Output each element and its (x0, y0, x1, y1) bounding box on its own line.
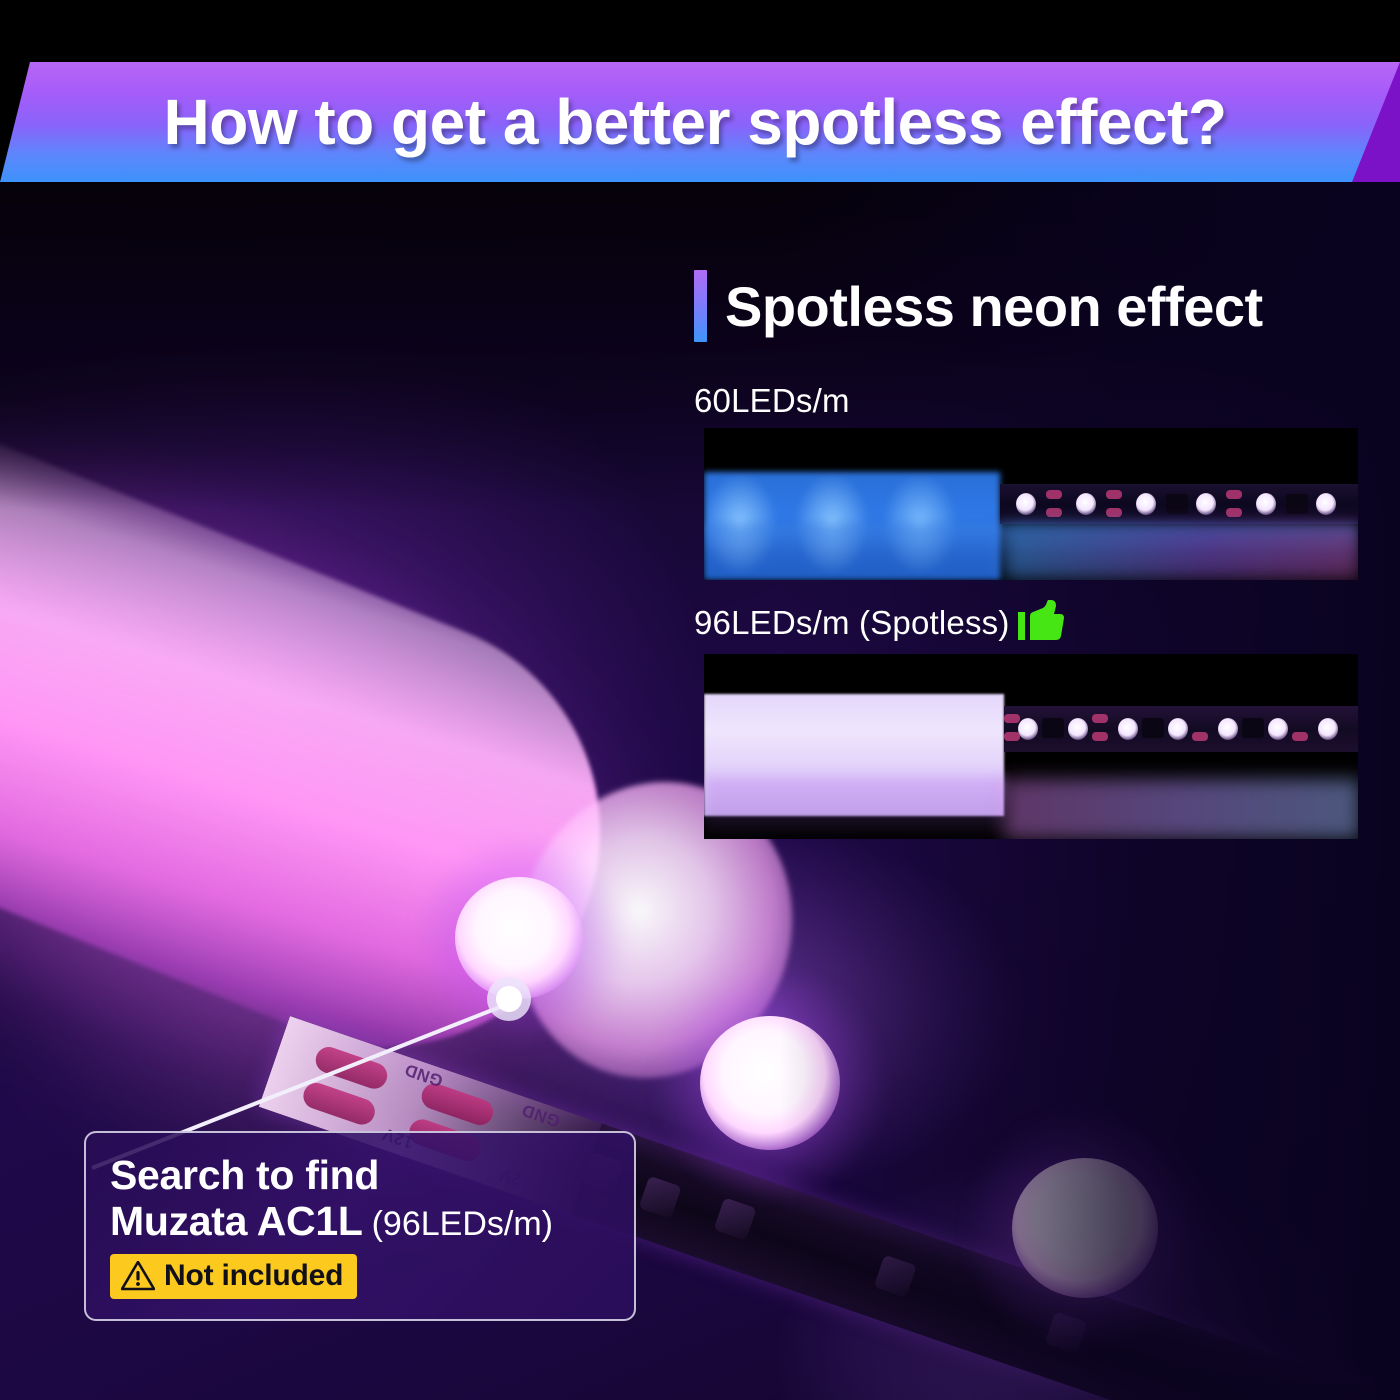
product-infographic: GND 12V GND 12V How to get a better spot… (0, 0, 1400, 1400)
mini-ic (1142, 718, 1164, 738)
not-included-badge: Not included (110, 1254, 357, 1299)
bare-led-strip-96 (1004, 706, 1358, 752)
mini-led (1136, 493, 1156, 515)
mini-ic (1166, 494, 1188, 514)
comparison-section: Spotless neon effect 60LEDs/m (694, 270, 1354, 839)
surface-reflection-strip (1004, 526, 1358, 580)
pcb-component (714, 1197, 757, 1240)
mini-pad (1226, 508, 1242, 517)
mini-led (1318, 718, 1338, 740)
mini-led (1168, 718, 1188, 740)
mini-pad (1292, 732, 1308, 741)
mini-pad (1092, 732, 1108, 741)
comparison-image-96 (704, 654, 1358, 839)
section-accent-bar (694, 270, 707, 342)
mini-led (1118, 718, 1138, 740)
callout-spec: (96LEDs/m) (372, 1206, 553, 1243)
comparison-label-60-text: 60LEDs/m (694, 382, 850, 420)
mini-led (1316, 493, 1336, 515)
page-title: How to get a better spotless effect? (0, 62, 1400, 182)
mini-pad (1046, 508, 1062, 517)
bare-led-strip-60 (1000, 484, 1358, 524)
comparison-label-60: 60LEDs/m (694, 382, 1354, 420)
mini-ic (1242, 718, 1264, 738)
callout-marker-dot (496, 986, 522, 1012)
comparison-label-96-text: 96LEDs/m (Spotless) (694, 604, 1010, 642)
mini-led (1268, 718, 1288, 740)
callout-box: Search to find Muzata AC1L (96LEDs/m) No… (84, 1131, 636, 1321)
thumbs-up-icon (1018, 600, 1064, 642)
not-included-badge-text: Not included (164, 1259, 343, 1293)
pcb-component (639, 1176, 682, 1219)
comparison-image-60 (704, 428, 1358, 580)
callout-line-2: Muzata AC1L (96LEDs/m) (110, 1199, 610, 1243)
mini-ic (1286, 494, 1308, 514)
mini-pad (1004, 714, 1020, 723)
mini-led (1018, 718, 1038, 740)
mini-led (1256, 493, 1276, 515)
mini-led (1218, 718, 1238, 740)
callout-brand-model: Muzata AC1L (110, 1199, 363, 1243)
section-header: Spotless neon effect (694, 270, 1354, 342)
mini-led (1016, 493, 1036, 515)
section-title: Spotless neon effect (725, 274, 1263, 339)
mini-led (1196, 493, 1216, 515)
header-banner: How to get a better spotless effect? (0, 0, 1400, 182)
mini-pad (1106, 490, 1122, 499)
mini-ic (1042, 718, 1064, 738)
mini-led (1076, 493, 1096, 515)
mini-pad (1092, 714, 1108, 723)
comparison-label-96: 96LEDs/m (Spotless) (694, 600, 1354, 646)
mini-pad (1106, 508, 1122, 517)
surface-reflection (704, 777, 1004, 839)
mini-pad (1004, 732, 1020, 741)
surface-reflection-strip (1004, 779, 1358, 839)
mini-pad (1046, 490, 1062, 499)
mini-pad (1192, 732, 1208, 741)
mini-led (1068, 718, 1088, 740)
mini-pad (1226, 490, 1242, 499)
warning-triangle-icon (121, 1261, 155, 1291)
callout-line-1: Search to find (110, 1153, 610, 1197)
